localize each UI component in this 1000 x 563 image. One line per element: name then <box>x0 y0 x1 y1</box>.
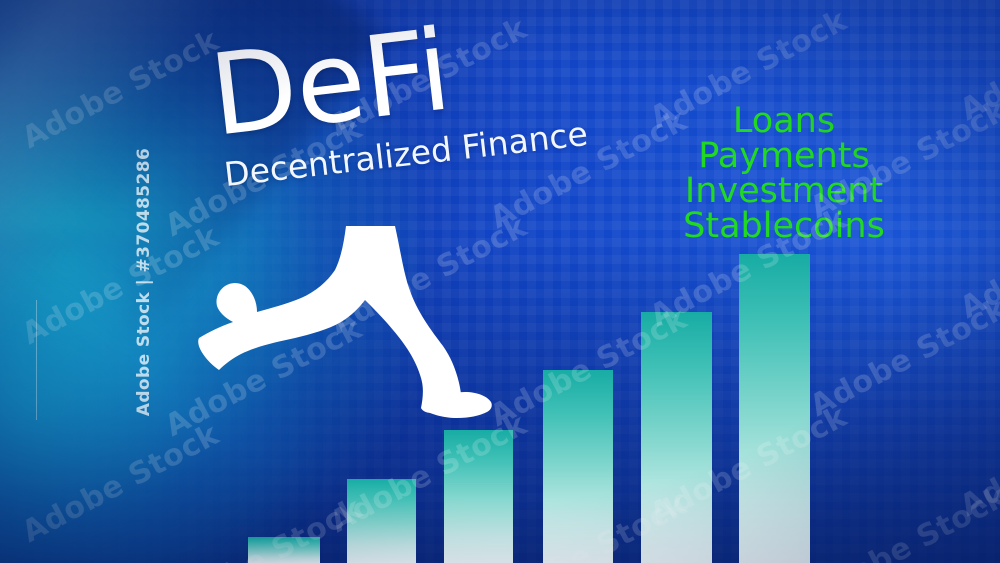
defi-banner-image: DeFi Decentralized Finance LoansPayments… <box>0 0 1000 563</box>
background-vignette <box>0 0 1000 563</box>
